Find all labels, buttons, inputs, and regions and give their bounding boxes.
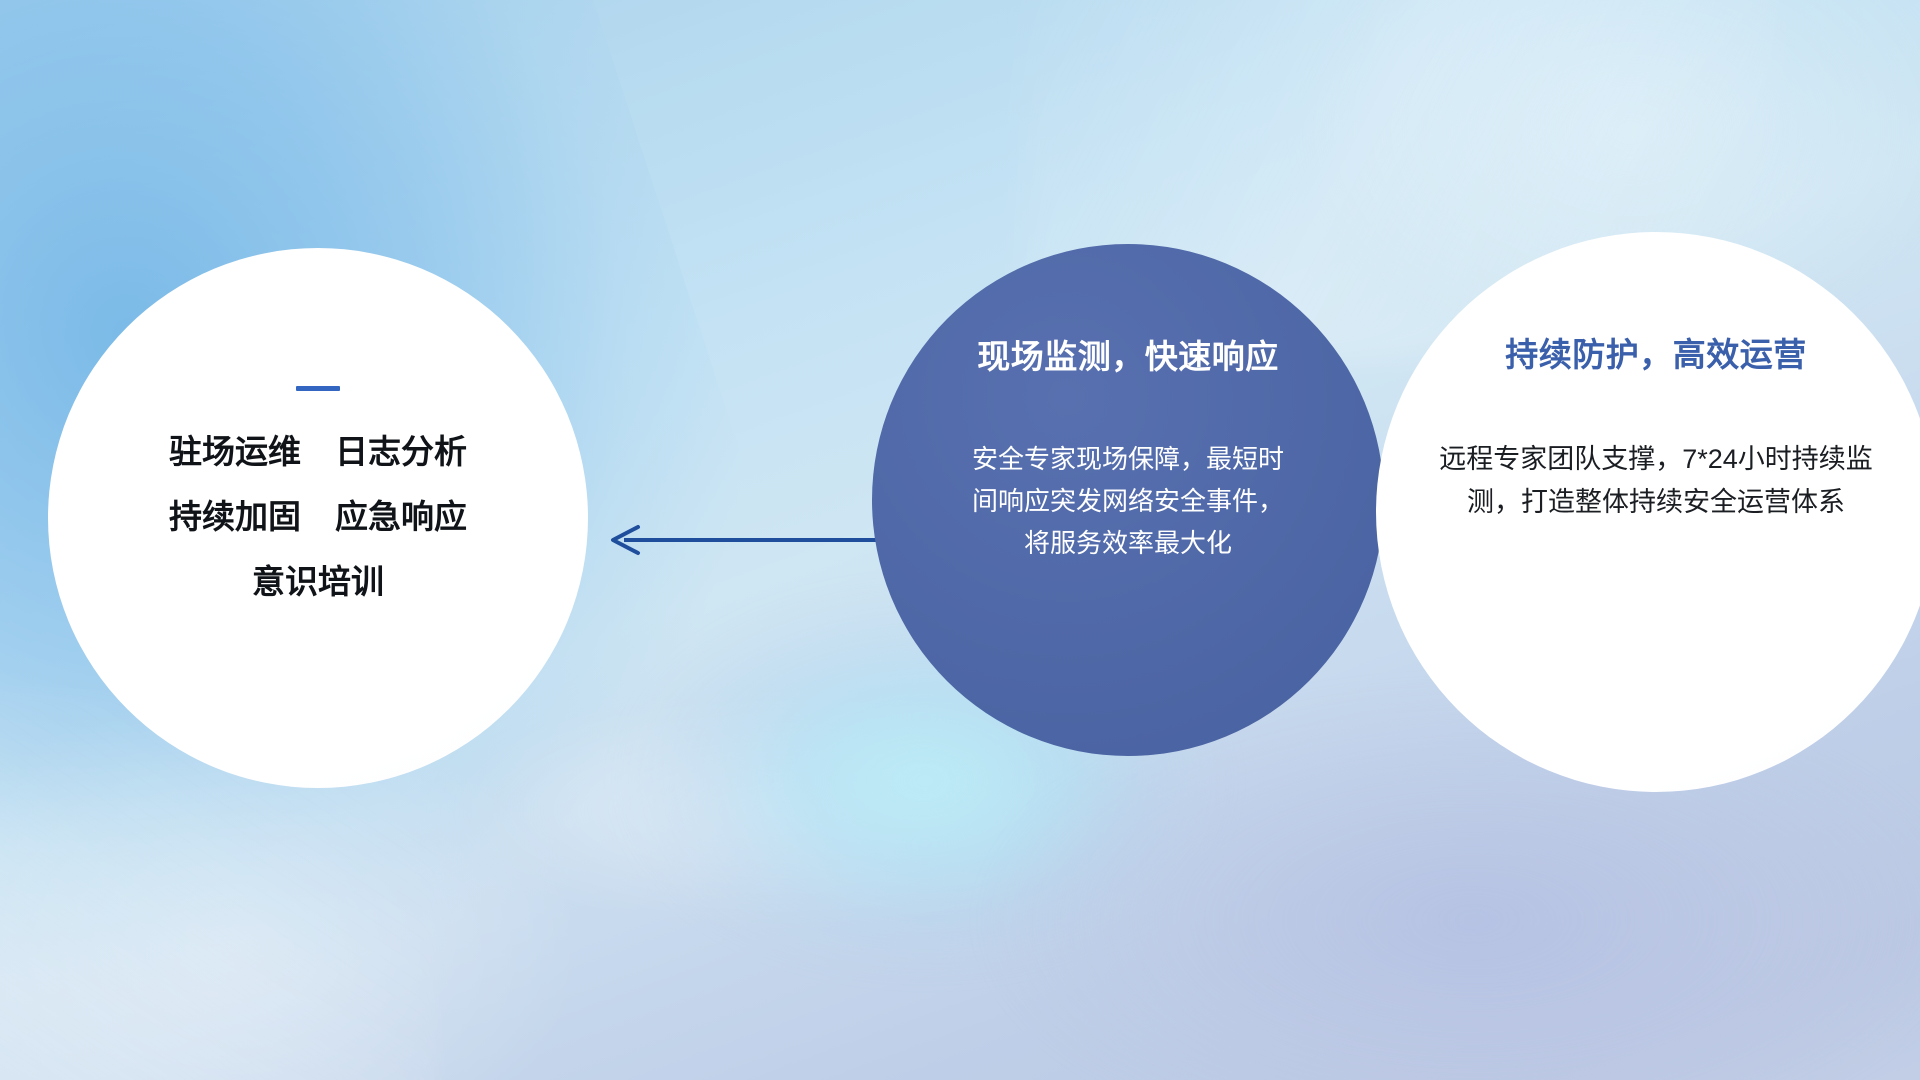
middle-circle-card[interactable]: 现场监测，快速响应 安全专家现场保障，最短时间响应突发网络安全事件，将服务效率最…: [872, 244, 1384, 756]
right-circle-card[interactable]: 持续防护，高效运营 远程专家团队支撑，7*24小时持续监测，打造整体持续安全运营…: [1376, 232, 1920, 792]
right-circle-body: 远程专家团队支撑，7*24小时持续监测，打造整体持续安全运营体系: [1436, 438, 1876, 523]
middle-circle-body: 安全专家现场保障，最短时间响应突发网络安全事件，将服务效率最大化: [963, 438, 1293, 564]
left-circle-card[interactable]: 驻场运维 日志分析 持续加固 应急响应 意识培训: [48, 248, 588, 788]
tag-label: 驻场运维: [169, 435, 301, 468]
tag-row: 意识培训: [252, 565, 384, 598]
left-arrow-icon: [600, 520, 900, 560]
right-circle-title: 持续防护，高效运营: [1505, 328, 1807, 376]
middle-circle-title: 现场监测，快速响应: [977, 330, 1279, 378]
tag-label: 意识培训: [252, 565, 384, 598]
tag-label: 日志分析: [335, 435, 467, 468]
left-circle-divider: [296, 386, 340, 391]
tag-label: 应急响应: [335, 500, 467, 533]
slide-canvas: 现场监测，快速响应 安全专家现场保障，最短时间响应突发网络安全事件，将服务效率最…: [0, 0, 1920, 1080]
tag-label: 持续加固: [169, 500, 301, 533]
tag-row: 驻场运维 日志分析: [169, 435, 467, 468]
tag-row: 持续加固 应急响应: [169, 500, 467, 533]
